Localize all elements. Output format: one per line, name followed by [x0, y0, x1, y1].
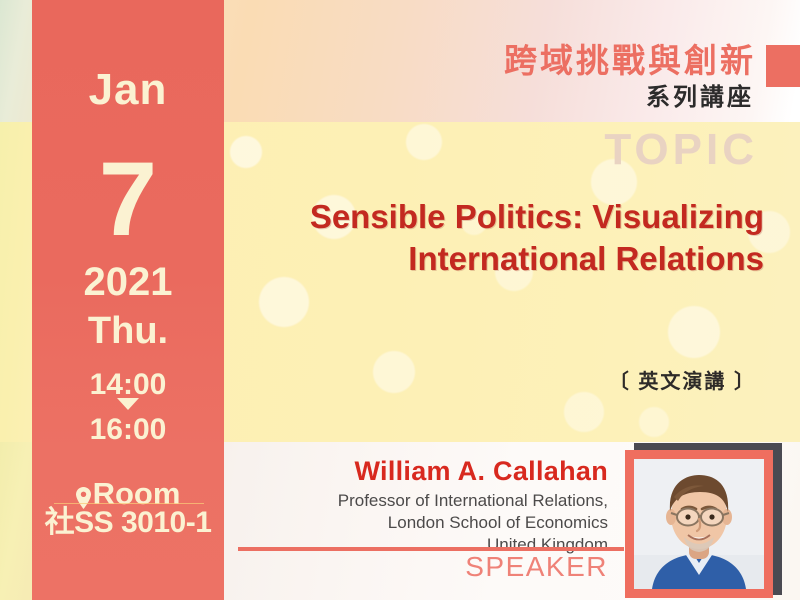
- speaker-affiliation-line-1: Professor of International Relations,: [338, 490, 608, 512]
- speaker-affiliation: Professor of International Relations, Lo…: [338, 490, 608, 555]
- time-start: 14:00: [32, 370, 224, 400]
- room-divider: [54, 503, 204, 504]
- speaker-label: SPEAKER: [465, 553, 608, 581]
- speaker-affiliation-line-2: London School of Economics: [338, 512, 608, 534]
- topic-label: TOPIC: [604, 128, 758, 172]
- event-poster: 跨域挑戰與創新 系列講座 Jan 7 2021 Thu. 14:00 16:00…: [0, 0, 800, 600]
- speaker-name: William A. Callahan: [354, 458, 608, 485]
- portrait-frame: [625, 450, 773, 598]
- time-end: 16:00: [32, 415, 224, 445]
- map-pin-icon: [76, 483, 91, 505]
- room-code: 社SS 3010-1: [32, 508, 224, 538]
- date-day: 7: [32, 147, 224, 252]
- date-weekday: Thu.: [32, 312, 224, 350]
- series-title-sub: 系列講座: [646, 86, 754, 110]
- topic-title: Sensible Politics: Visualizing Internati…: [244, 196, 764, 279]
- date-month: Jan: [32, 68, 224, 112]
- speaker-portrait: [634, 459, 764, 589]
- corner-accent-block: [766, 45, 800, 87]
- series-title-main: 跨域挑戰與創新: [504, 44, 756, 77]
- date-year: 2021: [32, 262, 224, 302]
- date-column: Jan 7 2021 Thu. 14:00 16:00 Room 社SS 301…: [32, 0, 224, 600]
- language-note: 〔 英文演講 〕: [609, 372, 756, 392]
